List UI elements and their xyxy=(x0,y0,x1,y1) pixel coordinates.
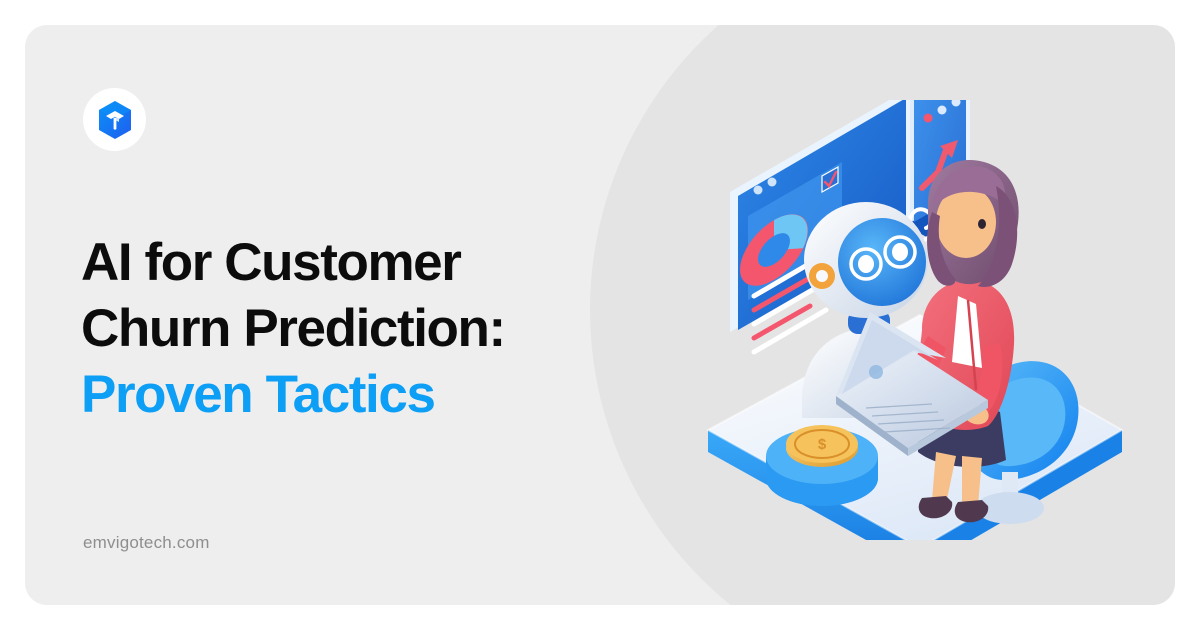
poster-card: AI for Customer Churn Prediction: Proven… xyxy=(25,25,1175,605)
isometric-ai-analytics-illustration: $ xyxy=(670,100,1140,540)
site-url-label: emvigotech.com xyxy=(83,533,210,553)
gold-coin-on-pedestal: $ xyxy=(766,425,878,506)
brand-logo-badge[interactable] xyxy=(83,88,146,151)
headline-block: AI for Customer Churn Prediction: Proven… xyxy=(81,230,641,428)
poster-canvas: AI for Customer Churn Prediction: Proven… xyxy=(0,0,1200,630)
svg-text:$: $ xyxy=(818,436,827,453)
headline-line-3-accent: Proven Tactics xyxy=(81,362,641,428)
hexagon-cube-logo-icon xyxy=(93,98,137,142)
headline-line-2: Churn Prediction: xyxy=(81,296,641,362)
woman-head xyxy=(927,160,1019,287)
window-dot-close xyxy=(924,114,933,123)
window-dot-min xyxy=(938,106,947,115)
headline-line-1: AI for Customer xyxy=(81,230,641,296)
